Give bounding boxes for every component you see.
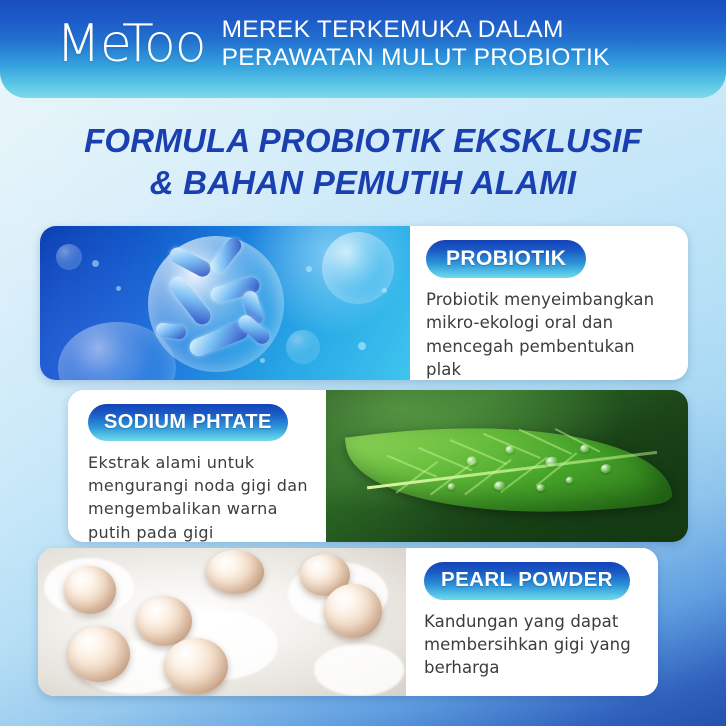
card-text-sodium-phtate: SODIUM PHTATE Ekstrak alami untuk mengur… [68,390,326,542]
badge-pearl-powder: PEARL POWDER [424,562,630,600]
page-title-line1: FORMULA PROBIOTIK EKSKLUSIF [84,122,642,159]
header-bar: MeToo MEREK TERKEMUKA DALAM PERAWATAN MU… [0,0,726,98]
water-drop [565,476,574,484]
page-title: FORMULA PROBIOTIK EKSKLUSIF & BAHAN PEMU… [0,120,726,203]
speck [260,358,265,363]
feature-card-pearl-powder: PEARL POWDER Kandungan yang dapat member… [38,548,658,696]
bubble-shape [286,330,320,364]
card-body-pearl-powder: Kandungan yang dapat membersihkan gigi y… [424,610,640,680]
pearl-bead [64,566,116,614]
speck [306,266,312,272]
card-body-probiotik: Probiotik menyeimbangkan mikro-ekologi o… [426,288,670,380]
leaf-vein [395,461,437,494]
header-tagline-line2: PERAWATAN MULUT PROBIOTIK [222,44,710,72]
feature-card-sodium-phtate: SODIUM PHTATE Ekstrak alami untuk mengur… [68,390,688,542]
card-text-pearl-powder: PEARL POWDER Kandungan yang dapat member… [406,548,658,696]
probiotic-bacteria-image [40,226,410,380]
pearl-powder-image [38,548,406,696]
green-leaf-image [326,390,688,542]
leaf-vein [450,439,508,465]
water-drop [466,456,478,466]
water-drop [505,445,515,454]
page-title-line2: & BAHAN PEMUTIH ALAMI [0,162,726,204]
badge-sodium-phtate: SODIUM PHTATE [88,404,288,441]
leaf-illustration [326,390,688,542]
pearl-bead [164,638,228,694]
pearl-bead [68,626,130,682]
water-drop [447,483,456,491]
card-body-sodium-phtate: Ekstrak alami untuk mengurangi noda gigi… [88,451,308,542]
pearl-bead [324,584,382,638]
speck [358,342,366,350]
water-drop [600,464,612,474]
water-drop [580,444,591,453]
header-tagline-line1: MEREK TERKEMUKA DALAM [222,16,564,43]
header-tagline: MEREK TERKEMUKA DALAM PERAWATAN MULUT PR… [222,16,710,72]
brand-logo: MeToo [18,18,222,70]
pearl-illustration [38,548,406,696]
powder-mound [314,644,404,696]
pearl-bead [206,550,264,594]
speck [116,286,121,291]
leaf-shape [345,399,673,541]
badge-probiotik: PROBIOTIK [426,240,586,278]
card-text-probiotik: PROBIOTIK Probiotik menyeimbangkan mikro… [410,226,688,380]
microbe-illustration [40,226,410,380]
poster-canvas: MeToo MEREK TERKEMUKA DALAM PERAWATAN MU… [0,0,726,726]
feature-card-probiotik: PROBIOTIK Probiotik menyeimbangkan mikro… [40,226,688,380]
water-drop [545,456,559,468]
speck [92,260,99,267]
speck [382,288,387,293]
pearl-bead [136,596,192,646]
water-drop [536,484,546,492]
bubble-shape [56,244,82,270]
bubble-shape [322,232,394,304]
